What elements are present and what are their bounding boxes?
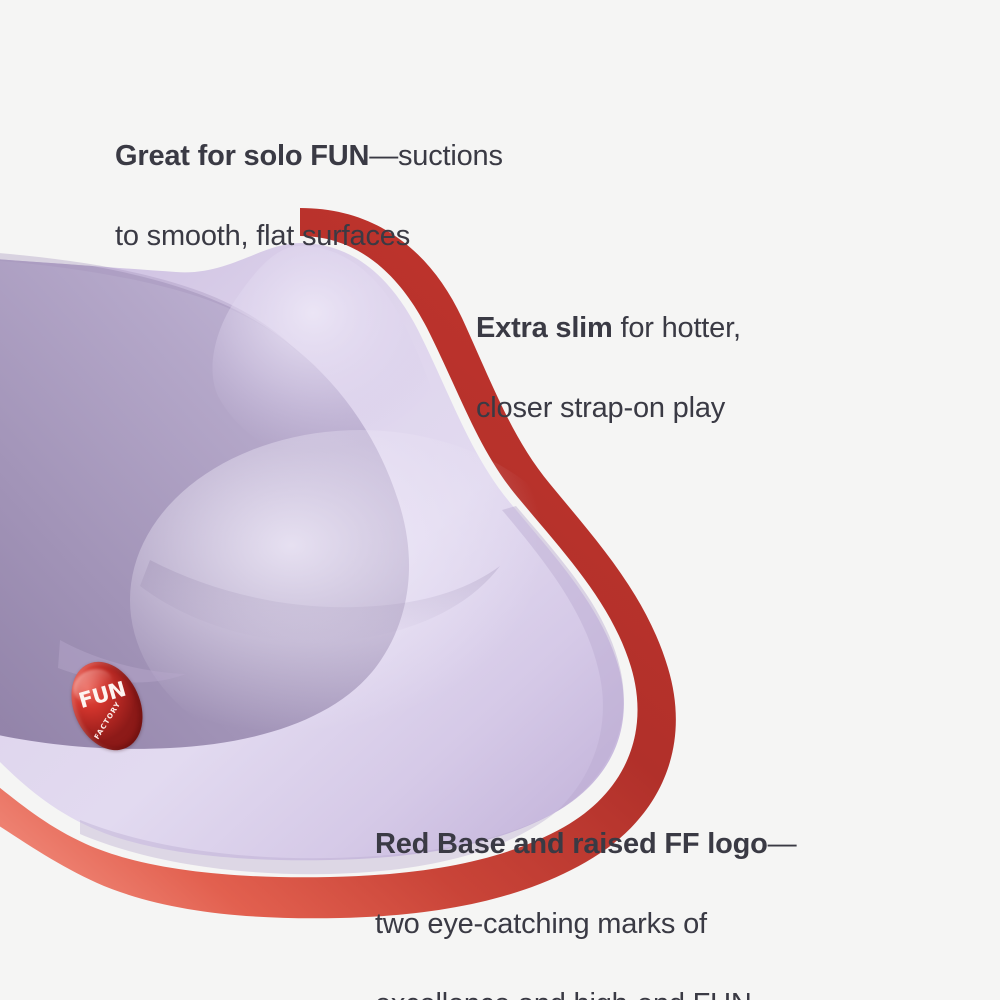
fun-factory-logo-badge: FUN FACTORY <box>58 651 156 762</box>
callout-base-lead: Red Base and raised FF logo <box>375 828 768 860</box>
callout-solo-line1: Great for solo FUN—suctions <box>115 136 675 176</box>
product-feature-callout-image: FUN FACTORY Great for solo FUN—suctions … <box>0 0 1000 1000</box>
callout-slim-lead: Extra slim <box>476 312 613 344</box>
base-highlight <box>130 430 590 770</box>
callout-solo-lead: Great for solo FUN <box>115 140 369 172</box>
logo-text-group: FUN FACTORY <box>58 651 156 762</box>
callout-base-line3: excellence and high-end FUN <box>375 984 935 1000</box>
callout-solo-line2: to smooth, flat surfaces <box>115 216 675 256</box>
neck-shadow <box>140 560 500 642</box>
callout-base-line1: Red Base and raised FF logo— <box>375 824 935 864</box>
callout-slim-line2: closer strap-on play <box>476 388 896 428</box>
callout-base-rest: — <box>768 828 797 860</box>
callout-base-line2: two eye-catching marks of <box>375 904 935 944</box>
product-shaft <box>0 250 409 749</box>
callout-red-base: Red Base and raised FF logo— two eye-cat… <box>375 784 935 1000</box>
callout-solo-fun: Great for solo FUN—suctions to smooth, f… <box>115 96 675 296</box>
callout-solo-rest: —suctions <box>369 140 503 172</box>
callout-slim-line1: Extra slim for hotter, <box>476 308 896 348</box>
callout-slim-rest: for hotter, <box>613 312 741 344</box>
base-right-shade <box>502 506 624 812</box>
callout-extra-slim: Extra slim for hotter, closer strap-on p… <box>476 268 896 468</box>
